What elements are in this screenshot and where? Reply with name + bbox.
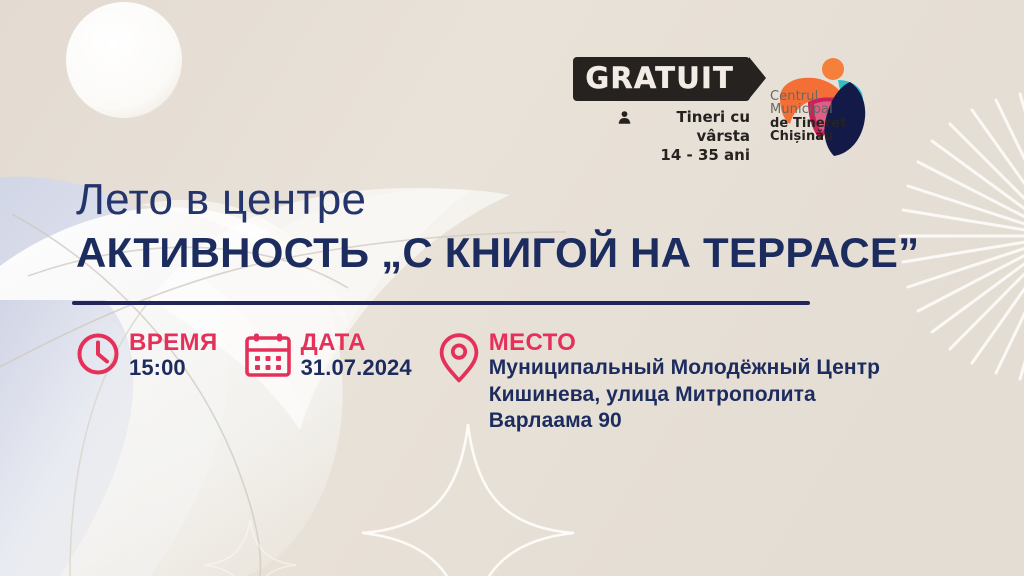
place-value: Муниципальный Молодёжный Центр Кишинева,…	[489, 355, 880, 434]
logo-line-2: Municipal	[770, 103, 847, 116]
cmt-logo-wordmark: Centrul Municipal de Tineret Chișinău	[770, 90, 847, 143]
place-label: МЕСТО	[489, 330, 880, 355]
title-line-2: АКТИВНОСТЬ „С КНИГОЙ НА ТЕРРАСЕ”	[76, 231, 919, 275]
gratuit-label: GRATUIT	[573, 57, 750, 101]
map-pin-icon	[438, 330, 480, 389]
detail-date: ДАТА 31.07.2024	[244, 330, 412, 383]
detail-time: ВРЕМЯ 15:00	[76, 330, 218, 381]
age-requirement: Tineri cu vârsta 14 - 35 ani	[618, 108, 750, 164]
calendar-icon	[244, 330, 292, 383]
clock-icon	[76, 330, 120, 381]
header-badge-group: GRATUIT Tineri cu vârsta 14 - 35 ani	[618, 52, 890, 170]
logo-line-1: Centrul	[770, 90, 847, 103]
detail-place: МЕСТО Муниципальный Молодёжный Центр Киш…	[438, 330, 880, 435]
page-title: Лето в центре АКТИВНОСТЬ „С КНИГОЙ НА ТЕ…	[76, 178, 919, 275]
date-value: 31.07.2024	[301, 355, 412, 381]
free-entry-badge: GRATUIT Tineri cu vârsta 14 - 35 ani	[618, 52, 750, 164]
title-line-1: Лето в центре	[76, 178, 919, 223]
event-details: ВРЕМЯ 15:00	[76, 330, 880, 435]
cmt-logo: Centrul Municipal de Tineret Chișinău	[764, 52, 876, 162]
time-label: ВРЕМЯ	[129, 330, 218, 355]
person-icon	[618, 110, 631, 129]
time-value: 15:00	[129, 355, 218, 381]
logo-line-3: de Tineret	[770, 117, 847, 130]
age-line-2: 14 - 35 ani	[660, 146, 750, 165]
logo-head-dot	[822, 58, 844, 80]
divider	[72, 301, 810, 305]
date-label: ДАТА	[301, 330, 412, 355]
age-line-1: Tineri cu vârsta	[636, 108, 750, 146]
event-poster: GRATUIT Tineri cu vârsta 14 - 35 ani	[0, 0, 1024, 576]
logo-line-4: Chișinău	[770, 130, 847, 143]
